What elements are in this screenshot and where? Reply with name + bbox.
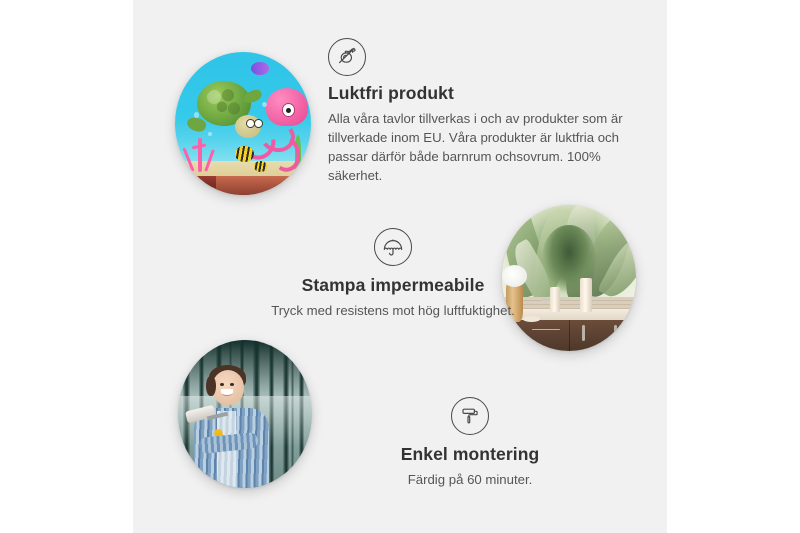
no-fragrance-perfume-bottle-icon [328, 38, 366, 76]
product-feature-panel: Luktfri produkt Alla våra tavlor tillver… [133, 0, 667, 533]
feature-title: Stampa impermeabile [223, 275, 563, 296]
feature-block-waterproof: Stampa impermeabile Tryck med resistens … [223, 228, 563, 320]
feature-body: Färdig på 60 minuter. [330, 470, 610, 489]
feature-image-underwater-cartoon-scene-circle [175, 52, 311, 195]
feature-body: Tryck med resistens mot hög luftfuktighe… [223, 301, 563, 320]
feature-body: Alla våra tavlor tillverkas i och av pro… [328, 109, 638, 186]
feature-title: Luktfri produkt [328, 83, 638, 104]
feature-block-odourless: Luktfri produkt Alla våra tavlor tillver… [328, 38, 638, 186]
feature-image-woman-painter-forest-circle [178, 340, 312, 488]
feature-title: Enkel montering [330, 444, 610, 465]
screenshot-root: Luktfri produkt Alla våra tavlor tillver… [0, 0, 800, 533]
paint-roller-icon [451, 397, 489, 435]
umbrella-icon [374, 228, 412, 266]
feature-block-easy-installation: Enkel montering Färdig på 60 minuter. [330, 397, 610, 489]
